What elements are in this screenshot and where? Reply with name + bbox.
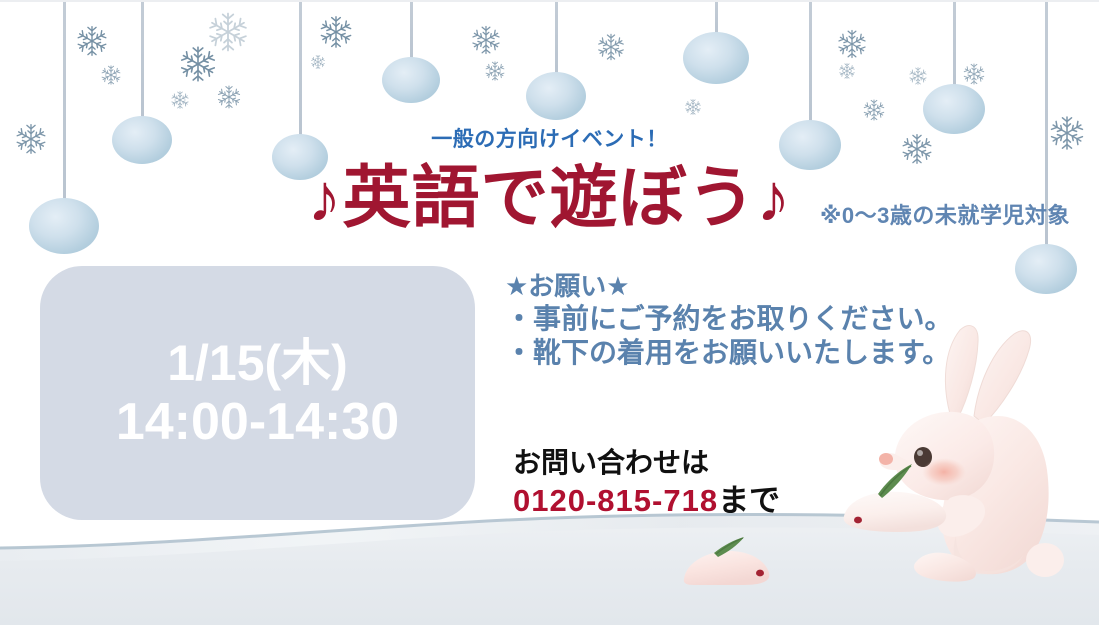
ornament-6	[683, 2, 749, 84]
ornament-string	[410, 2, 413, 63]
snowflake-8	[318, 14, 354, 50]
date-panel: 1/15(木) 14:00-14:30	[40, 266, 475, 520]
snowflake-11	[484, 60, 506, 82]
contact-phone-number[interactable]: 0120-815-718	[513, 483, 718, 518]
snowflake-14	[836, 28, 868, 60]
contact-block: お問い合わせは 0120-815-718まで	[513, 445, 780, 521]
flyer-canvas: 一般の方向けイベント！ ♪英語で遊ぼう♪ ※0〜3歳の未就学児対象 1/15(木…	[0, 0, 1099, 625]
snowflake-icon	[684, 98, 702, 116]
ornament-ball	[683, 32, 749, 84]
snowflake-icon	[310, 54, 326, 70]
snowflake-7	[216, 84, 242, 110]
contact-number-line: 0120-815-718まで	[513, 481, 780, 521]
ornament-5	[526, 2, 586, 120]
age-note: ※0〜3歳の未就学児対象	[820, 198, 1070, 230]
snowflake-icon	[862, 98, 886, 122]
snowflake-icon	[75, 24, 109, 58]
ornament-string	[715, 2, 718, 38]
snowflake-4	[170, 90, 190, 110]
snowflake-icon	[318, 14, 354, 50]
snowflake-18	[908, 66, 928, 86]
snowflake-1	[75, 24, 109, 58]
radish-illustration	[672, 535, 782, 591]
snowflake-20	[962, 62, 986, 86]
snowflake-icon	[836, 28, 868, 60]
snowflake-icon	[178, 44, 218, 84]
snowflake-2	[100, 64, 122, 86]
snowflake-15	[838, 62, 856, 80]
snowflake-icon	[596, 32, 626, 62]
ornament-ball	[382, 57, 440, 103]
ornament-3	[272, 2, 328, 180]
ornament-string	[299, 2, 302, 140]
snow-ground-shape	[0, 505, 1099, 625]
ornament-4	[382, 2, 440, 103]
snowflake-12	[596, 32, 626, 62]
contact-phone-suffix: まで	[718, 483, 780, 518]
snowflake-icon	[908, 66, 928, 86]
request-heading: ★お願い★	[505, 270, 975, 302]
ornament-8	[923, 2, 985, 134]
snowflake-icon	[838, 62, 856, 80]
ornament-string	[809, 2, 812, 126]
snowflake-icon	[216, 84, 242, 110]
contact-label: お問い合わせは	[513, 445, 780, 481]
snowflake-13	[684, 98, 702, 116]
snowflake-icon	[206, 10, 250, 54]
snowflake-icon	[170, 90, 190, 110]
radish-icon	[672, 535, 782, 591]
snowflake-5	[206, 10, 250, 54]
request-item-1: ・事前にご予約をお取りください。	[505, 302, 975, 336]
ornament-ball	[526, 72, 586, 120]
event-date: 1/15(木)	[167, 334, 348, 392]
request-item-2: ・靴下の着用をお願いいたします。	[505, 336, 975, 370]
snowflake-3	[178, 44, 218, 84]
snowflake-icon	[100, 64, 122, 86]
ornament-string	[555, 2, 558, 78]
kicker-text: 一般の方向けイベント！	[0, 123, 1099, 153]
snowflake-9	[310, 54, 326, 70]
event-time: 14:00-14:30	[116, 392, 399, 452]
ornament-string	[141, 2, 144, 122]
request-block: ★お願い★ ・事前にご予約をお取りください。 ・靴下の着用をお願いいたします。	[505, 270, 975, 370]
ornament-string	[953, 2, 956, 90]
snowflake-icon	[470, 24, 502, 56]
snowflake-16	[862, 98, 886, 122]
ornament-ball	[1015, 244, 1077, 294]
snowflake-icon	[962, 62, 986, 86]
snowflake-icon	[484, 60, 506, 82]
snow-ground	[0, 505, 1099, 625]
snowflake-10	[470, 24, 502, 56]
